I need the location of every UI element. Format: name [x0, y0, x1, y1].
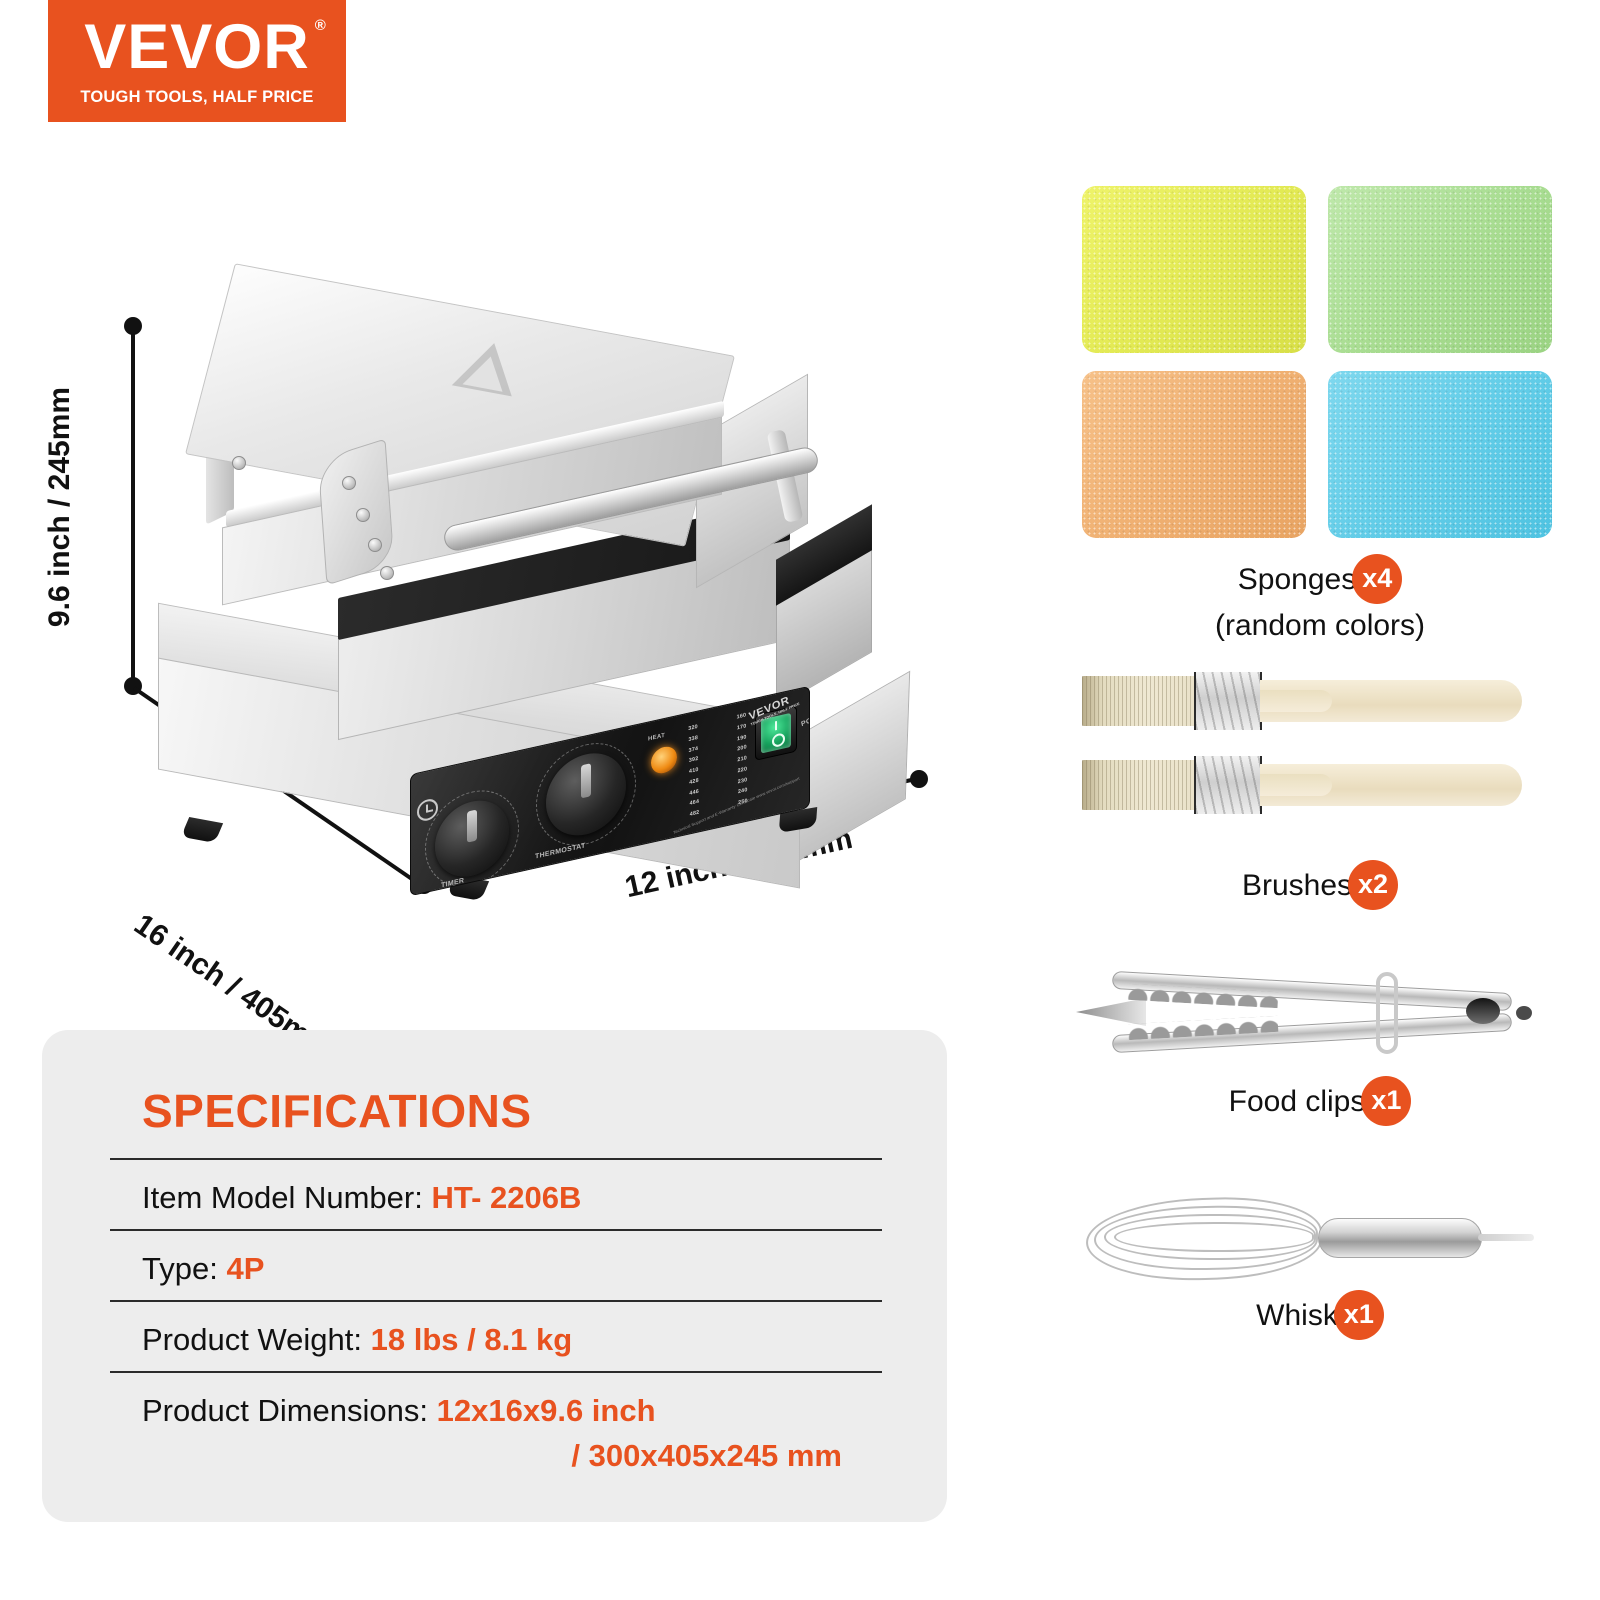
- brush-bristles: [1082, 676, 1200, 726]
- food-clips-qty-badge: x1: [1361, 1076, 1411, 1126]
- brush-bristles: [1082, 760, 1200, 810]
- spec-value-weight: 18 lbs / 8.1 kg: [371, 1322, 573, 1357]
- brushes-name: Brushes: [1242, 869, 1352, 902]
- whisk-label: Whiskx1: [1040, 1292, 1600, 1342]
- whisk-tail: [1478, 1234, 1534, 1241]
- spec-value-dimensions: 12x16x9.6 inch: [437, 1393, 656, 1428]
- food-clips-image: [1076, 958, 1546, 1068]
- brush-image-1: [1082, 672, 1522, 730]
- sponge-yellow: [1082, 186, 1306, 353]
- sponge-green: [1328, 186, 1552, 353]
- brand-tagline: TOUGH TOOLS, HALF PRICE: [80, 88, 313, 107]
- tongs-tip: [1076, 998, 1146, 1026]
- spec-value-dimensions-mm: / 300x405x245 mm: [142, 1435, 882, 1477]
- tongs-locking-ring: [1376, 972, 1398, 1054]
- sponges-qty-badge: x4: [1352, 554, 1402, 604]
- food-clips-name: Food clips: [1229, 1085, 1366, 1118]
- specifications-title: SPECIFICATIONS: [142, 1084, 532, 1138]
- spec-row-dimensions: Product Dimensions: 12x16x9.6 inch / 300…: [110, 1371, 882, 1488]
- spec-value-model: HT- 2206B: [431, 1180, 581, 1215]
- spec-row-model: Item Model Number: HT- 2206B: [110, 1158, 882, 1229]
- whisk-wire-loop-4: [1114, 1222, 1314, 1252]
- waffle-maker-illustration: TIMER THERMOSTAT HEAT 320160 338170 3741…: [140, 280, 930, 920]
- accessories-column: Spongesx4 (random colors) Brushesx2: [1040, 0, 1600, 1600]
- brush-image-2: [1082, 756, 1522, 814]
- product-infographic: VEVOR® TOUGH TOOLS, HALF PRICE 9.6 inch …: [0, 0, 1600, 1600]
- hinge-screw-5: [232, 456, 246, 470]
- brush-ferrule: [1194, 672, 1262, 730]
- sponges-note: (random colors): [1215, 609, 1425, 642]
- whisk-handle: [1318, 1218, 1482, 1258]
- rubber-foot-left: [181, 817, 223, 843]
- sponges-image: [1082, 186, 1552, 538]
- spec-label-weight: Product Weight:: [142, 1322, 362, 1357]
- sponges-name: Sponges: [1238, 563, 1356, 596]
- brush-handle: [1260, 680, 1522, 722]
- registered-trademark-icon: ®: [315, 18, 327, 33]
- height-dimension-label: 9.6 inch / 245mm: [43, 387, 77, 627]
- whisk-qty-badge: x1: [1334, 1290, 1384, 1340]
- product-diagram: 9.6 inch / 245mm 16 inch / 405mm 12 inch…: [0, 150, 1000, 980]
- sponge-orange: [1082, 371, 1306, 538]
- sponge-blue: [1328, 371, 1552, 538]
- spec-label-dimensions: Product Dimensions:: [142, 1393, 428, 1428]
- tongs-hole-small: [1516, 1006, 1532, 1020]
- brushes-qty-badge: x2: [1348, 860, 1398, 910]
- tongs-hole-large: [1466, 998, 1500, 1024]
- sponges-label: Spongesx4 (random colors): [1040, 556, 1600, 645]
- brand-logo: VEVOR® TOUGH TOOLS, HALF PRICE: [48, 0, 346, 122]
- whisk-name: Whisk: [1256, 1299, 1338, 1332]
- hinge-screw-3: [368, 538, 382, 552]
- food-clips-label: Food clipsx1: [1040, 1078, 1600, 1128]
- spec-label-type: Type:: [142, 1251, 218, 1286]
- brand-name-text: VEVOR: [84, 12, 310, 82]
- spec-value-type: 4P: [226, 1251, 264, 1286]
- height-dimension-line: [131, 325, 135, 685]
- spec-row-weight: Product Weight: 18 lbs / 8.1 kg: [110, 1300, 882, 1371]
- specifications-panel: SPECIFICATIONS Item Model Number: HT- 22…: [42, 1030, 947, 1522]
- spec-row-type: Type: 4P: [110, 1229, 882, 1300]
- spec-label-model: Item Model Number:: [142, 1180, 423, 1215]
- whisk-image: [1080, 1178, 1540, 1298]
- brush-ferrule: [1194, 756, 1262, 814]
- specifications-list: Item Model Number: HT- 2206B Type: 4P Pr…: [110, 1158, 882, 1487]
- hinge-screw-4: [380, 566, 394, 580]
- brand-name: VEVOR®: [84, 16, 310, 79]
- hinge-screw-1: [342, 476, 356, 490]
- brushes-label: Brushesx2: [1040, 862, 1600, 912]
- hinge-screw-2: [356, 508, 370, 522]
- brush-handle: [1260, 764, 1522, 806]
